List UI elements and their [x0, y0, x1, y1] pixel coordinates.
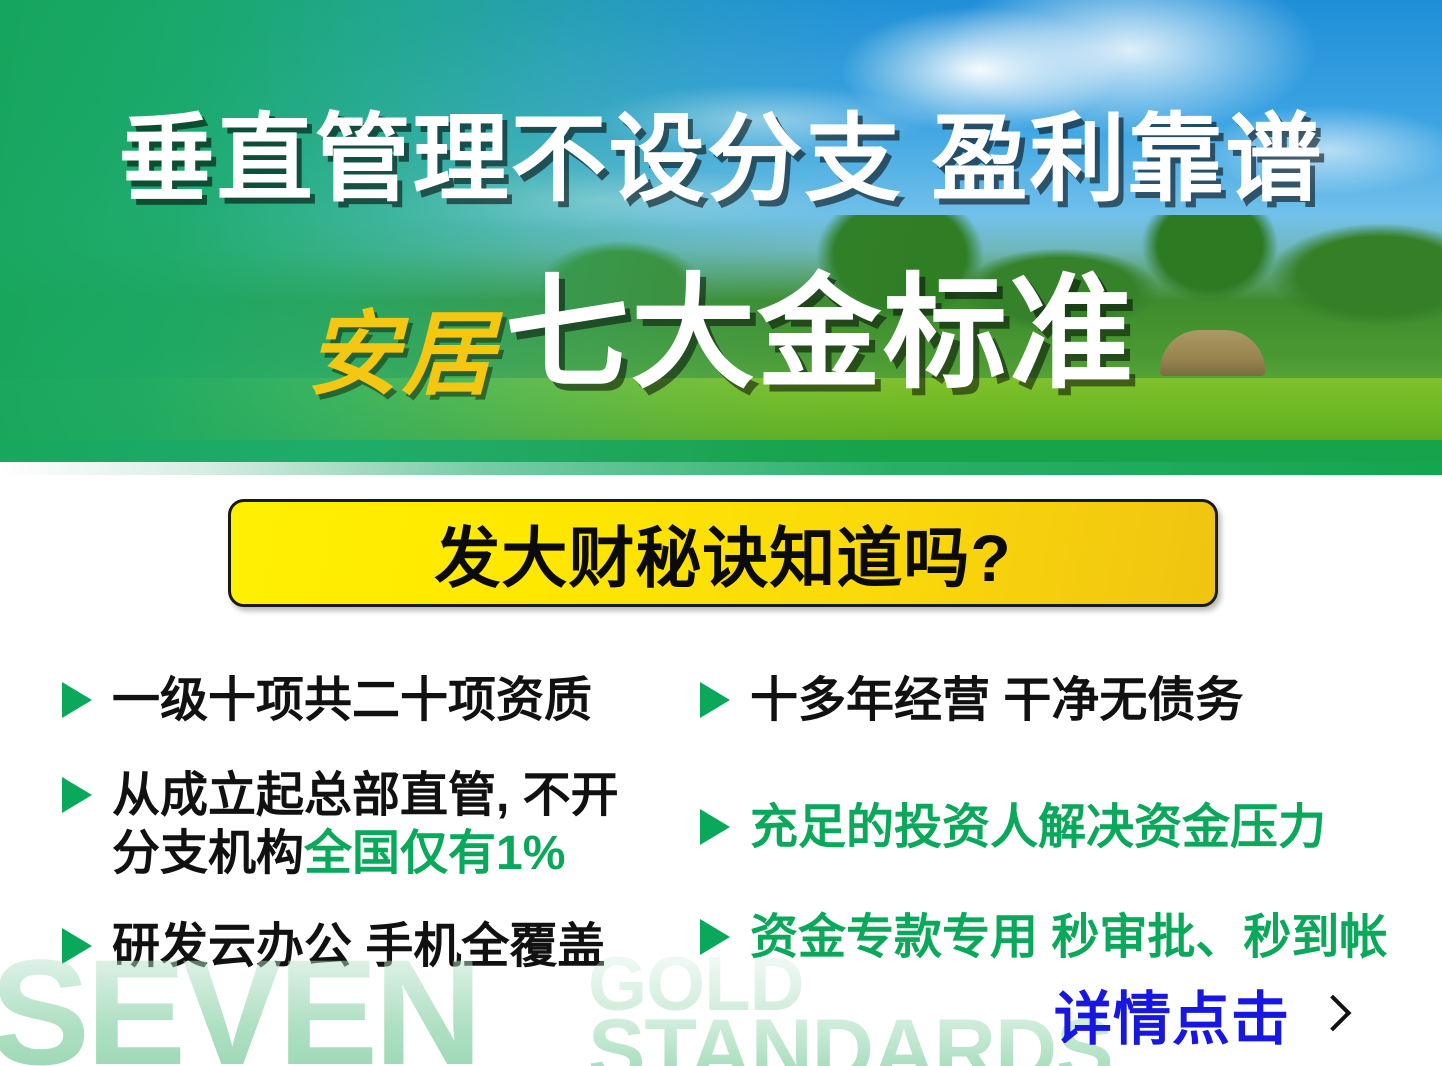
triangle-bullet-icon [62, 682, 92, 718]
list-item: 一级十项共二十项资质 [62, 672, 682, 731]
benefit-text-right-1: 十多年经营 干净无债务 [750, 672, 1243, 731]
benefit-text-left-1: 一级十项共二十项资质 [112, 672, 592, 731]
benefits-column-left: 一级十项共二十项资质 从成立起总部直管, 不开 分支机构全国仅有1% 研发云办公… [62, 672, 682, 1012]
triangle-bullet-icon [700, 682, 730, 718]
chevron-right-icon [1318, 994, 1340, 1034]
benefit-text-left-2: 从成立起总部直管, 不开 分支机构全国仅有1% [112, 767, 619, 884]
hero-headline-brand-script: 安居 [307, 309, 497, 401]
benefit-text-left-2-highlight: 全国仅有1% [304, 827, 565, 880]
list-item: 资金专款专用 秒审批、秒到帐 [700, 909, 1400, 968]
list-item: 十多年经营 干净无债务 [700, 672, 1400, 731]
benefit-text-right-2: 充足的投资人解决资金压力 [750, 799, 1326, 858]
list-item: 充足的投资人解决资金压力 [700, 799, 1400, 858]
highlight-banner[interactable]: 发大财秘诀知道吗? [228, 499, 1218, 607]
hero-headline-seven-standards: 七大金标准 [505, 272, 1135, 396]
benefit-text-right-3: 资金专款专用 秒审批、秒到帐 [750, 909, 1387, 968]
benefit-text-left-2-line1: 从成立起总部直管, 不开 [112, 769, 619, 822]
hero-fade-divider [0, 462, 1442, 475]
list-item: 研发云办公 手机全覆盖 [62, 918, 682, 977]
benefit-text-left-3: 研发云办公 手机全覆盖 [112, 918, 605, 977]
details-cta-link[interactable]: 详情点击 [1054, 972, 1340, 1056]
triangle-bullet-icon [700, 809, 730, 845]
watermark-standards: STANDARDS [588, 1007, 1113, 1066]
advertisement-banner: 垂直管理不设分支 盈利靠谱 安居七大金标准 发大财秘诀知道吗? 一级十项共二十项… [0, 0, 1442, 1066]
triangle-bullet-icon [62, 928, 92, 964]
benefit-text-left-2-line2-plain: 分支机构 [112, 827, 304, 880]
highlight-banner-text: 发大财秘诀知道吗? [434, 505, 1011, 601]
triangle-bullet-icon [62, 777, 92, 813]
benefits-column-right: 十多年经营 干净无债务 充足的投资人解决资金压力 资金专款专用 秒审批、秒到帐 [700, 672, 1400, 1004]
triangle-bullet-icon [700, 919, 730, 955]
hero-headline-primary: 垂直管理不设分支 盈利靠谱 [0, 112, 1442, 208]
list-item: 从成立起总部直管, 不开 分支机构全国仅有1% [62, 767, 682, 884]
details-cta-label: 详情点击 [1054, 972, 1290, 1056]
hero-headline-secondary: 安居七大金标准 [0, 272, 1442, 401]
